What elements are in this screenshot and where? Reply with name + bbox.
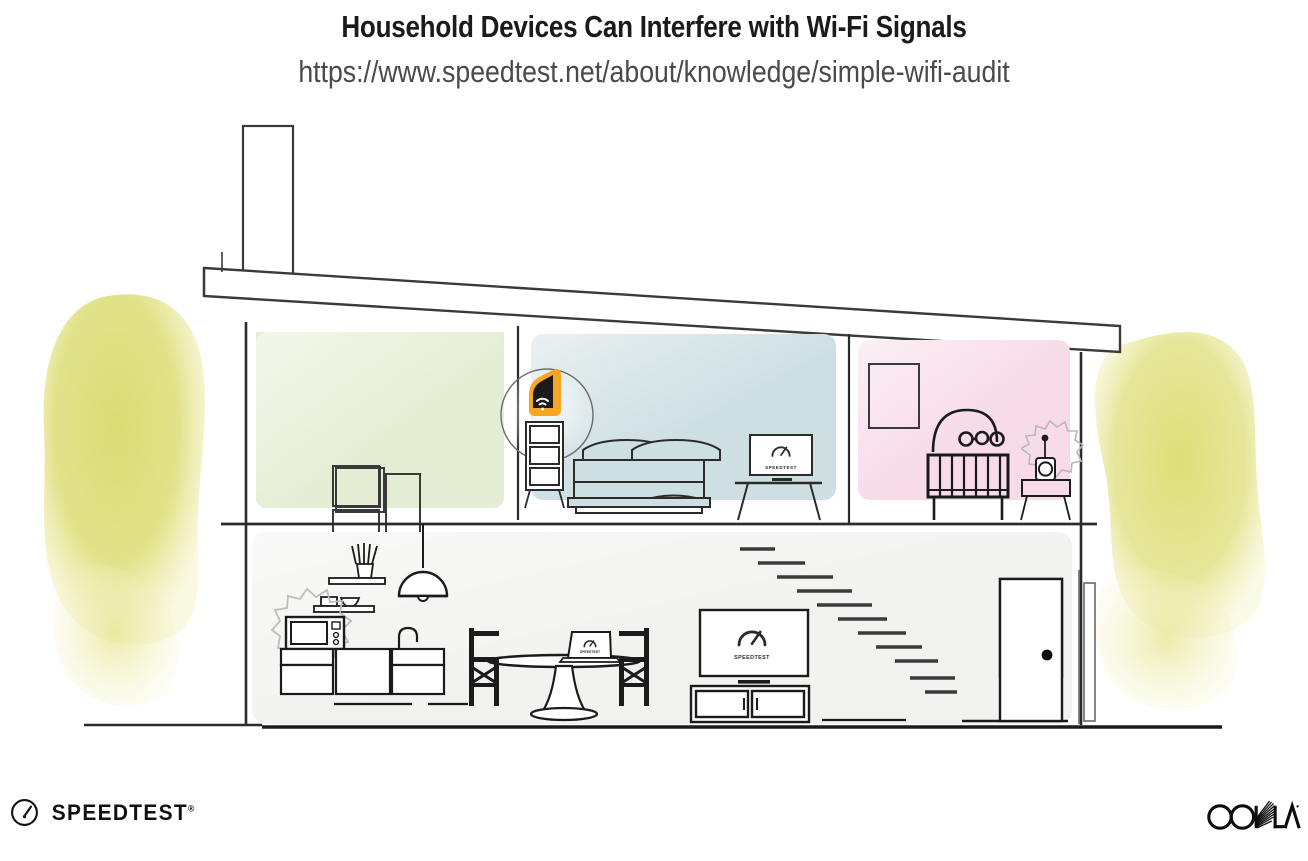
ookla-logo[interactable] bbox=[1207, 797, 1299, 831]
chimney bbox=[243, 126, 293, 286]
speedtest-trademark: ® bbox=[188, 803, 196, 813]
shelf-lower bbox=[314, 606, 374, 612]
tv-screen-downstairs: SPEEDTEST bbox=[700, 610, 808, 684]
room-downstairs: SPEEDTEST bbox=[252, 524, 1072, 724]
microwave[interactable] bbox=[286, 617, 344, 649]
gauge-icon bbox=[10, 798, 39, 827]
page-title: Household Devices Can Interfere with Wi-… bbox=[105, 6, 1204, 48]
tv-screen-label: SPEEDTEST bbox=[765, 465, 797, 470]
illustration-canvas: Household Devices Can Interfere with Wi-… bbox=[0, 0, 1308, 861]
tv-screen-upstairs: SPEEDTEST bbox=[750, 435, 812, 481]
page-subtitle-url: https://www.speedtest.net/about/knowledg… bbox=[92, 50, 1217, 94]
foliage-left bbox=[44, 294, 206, 706]
ookla-wordmark bbox=[1207, 797, 1299, 831]
bed-middle bbox=[568, 440, 720, 513]
speedtest-logo[interactable]: SPEEDTEST® bbox=[10, 798, 199, 827]
front-door-overlay[interactable] bbox=[1000, 579, 1062, 721]
room-middle-bedroom: SPEEDTEST bbox=[501, 334, 836, 520]
kitchen-counters bbox=[281, 649, 444, 694]
room-nursery bbox=[858, 340, 1083, 520]
house-cutaway-illustration: SPEEDTEST bbox=[0, 100, 1308, 800]
media-cabinet bbox=[691, 686, 809, 722]
speedtest-wordmark: SPEEDTEST® bbox=[52, 800, 196, 826]
tv-screen-label-downstairs: SPEEDTEST bbox=[734, 655, 770, 661]
shelf-upper bbox=[329, 578, 385, 584]
laptop-screen-label: SPEEDTEST bbox=[580, 650, 601, 654]
foliage-right bbox=[1094, 332, 1265, 709]
door-knob-icon[interactable] bbox=[1042, 650, 1053, 661]
